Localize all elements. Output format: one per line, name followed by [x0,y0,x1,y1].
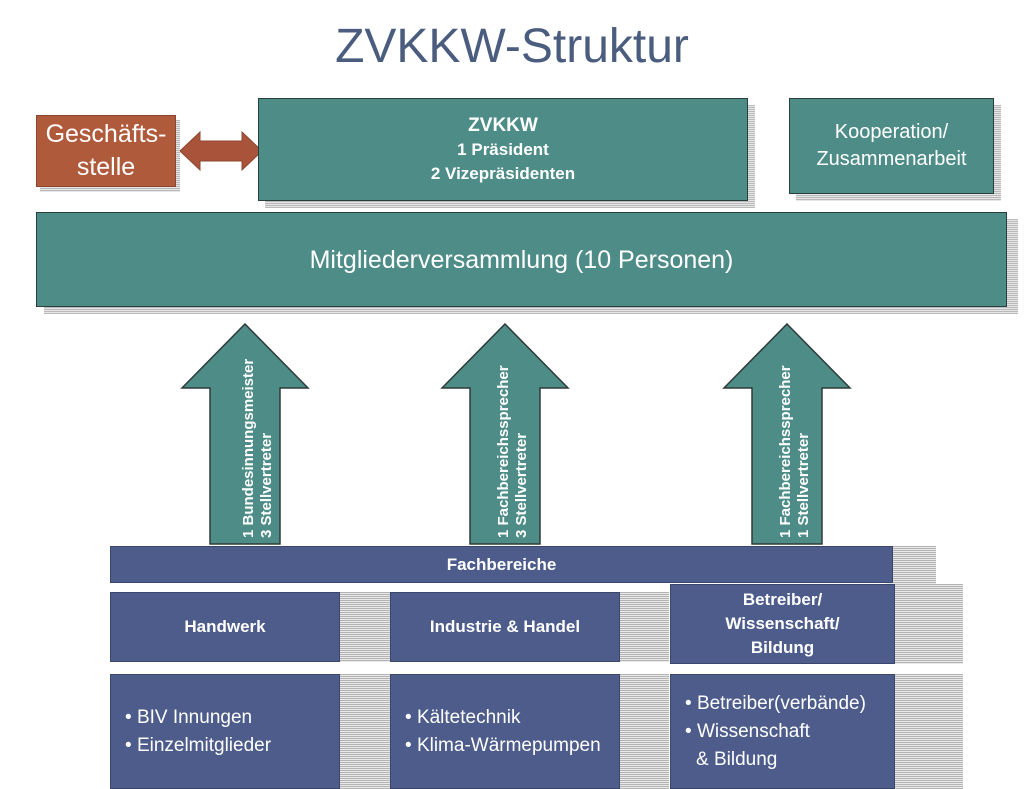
arrow-3-label-line1: 1 Fachbereichssprecher [777,365,794,538]
list-item: • Kältetechnik [405,704,520,732]
arrow-1-label-line1: 1 Bundesinnungsmeister [240,359,257,538]
list-item: • Wissenschaft [685,718,810,746]
department-1-shadow [338,592,390,662]
list-item: • Klima-Wärmepumpen [405,732,601,760]
assembly-label: Mitgliederversammlung (10 Personen) [310,245,734,275]
double-headed-arrow-icon [180,122,262,180]
bullet-icon: • [685,721,697,742]
center-line1: 1 Präsident [457,138,549,162]
departments-header[interactable]: Fachbereiche [110,546,893,583]
list-item: • Betreiber(verbände) [685,690,866,718]
bullet-icon: • [405,735,417,756]
department-3-items[interactable]: • Betreiber(verbände) • Wissenschaft & B… [670,674,895,789]
bullet-icon: • [125,707,137,728]
list-item: • Einzelmitglieder [125,732,271,760]
department-1-items[interactable]: • BIV Innungen • Einzelmitglieder [110,674,340,789]
arrow-3-label-line2: 1 Stellvertreter [795,433,812,538]
arrow-2-label-line2: 3 Stellvertreter [513,433,530,538]
department-1-items-shadow [338,674,390,789]
office-label-line2: stelle [77,151,135,184]
department-2-box[interactable]: Industrie & Handel [390,592,620,662]
department-3-name-line1: Betreiber/ [743,588,822,612]
list-item: & Bildung [685,746,777,774]
center-line2: 2 Vizepräsidenten [431,162,575,186]
cooperation-box[interactable]: Kooperation/ Zusammenarbeit [789,98,994,194]
department-2-items[interactable]: • Kältetechnik • Klima-Wärmepumpen [390,674,620,789]
slide-canvas: ZVKKW-Struktur Geschäfts- stelle ZVKKW 1… [0,0,1024,789]
bullet-icon: • [685,693,697,714]
bullet-icon: • [405,707,417,728]
office-label-line1: Geschäfts- [46,118,167,151]
bullet-icon: • [125,735,137,756]
department-3-name-line2: Wissenschaft/ [725,612,839,636]
department-1-box[interactable]: Handwerk [110,592,340,662]
department-3-shadow [893,584,963,664]
cooperation-line2: Zusammenarbeit [816,146,966,173]
center-box[interactable]: ZVKKW 1 Präsident 2 Vizepräsidenten [258,98,748,201]
department-3-items-shadow [893,674,963,789]
cooperation-line1: Kooperation/ [835,119,948,146]
department-3-box[interactable]: Betreiber/ Wissenschaft/ Bildung [670,584,895,664]
page-title: ZVKKW-Struktur [0,18,1024,76]
department-3-name-line3: Bildung [751,636,814,660]
department-1-name-line1: Handwerk [184,615,265,639]
department-2-shadow [617,592,669,662]
department-2-items-shadow [617,674,669,789]
arrow-2-label-line1: 1 Fachbereichssprecher [495,365,512,538]
office-box[interactable]: Geschäfts- stelle [36,115,176,187]
list-item: • BIV Innungen [125,704,252,732]
departments-header-label: Fachbereiche [447,554,557,576]
department-2-name-line1: Industrie & Handel [430,615,580,639]
center-title: ZVKKW [468,113,538,138]
arrow-1-label-line2: 3 Stellvertreter [258,433,275,538]
assembly-bar[interactable]: Mitgliederversammlung (10 Personen) [36,212,1007,307]
